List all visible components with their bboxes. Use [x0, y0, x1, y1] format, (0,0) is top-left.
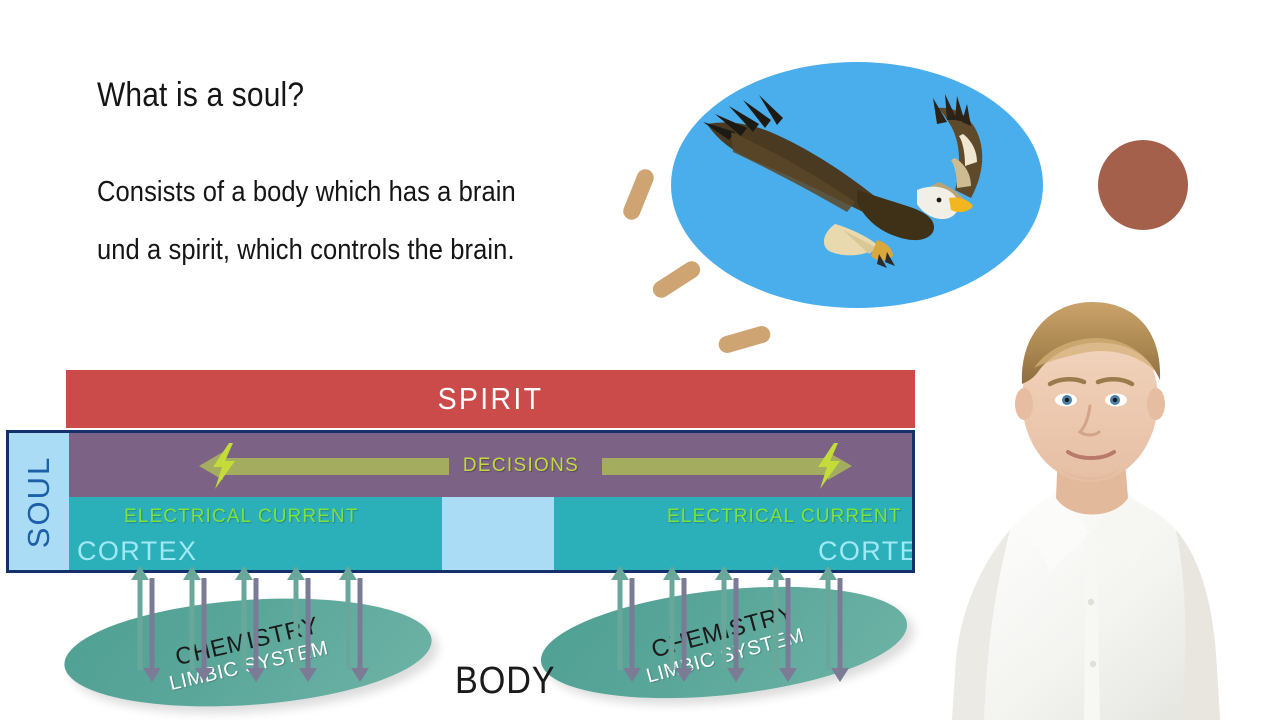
page-title: What is a soul?: [97, 76, 304, 115]
spirit-bar: SPIRIT: [66, 370, 915, 428]
cortex-label-left: CORTEX: [77, 536, 197, 567]
electrical-current-label-right: ELECTRICAL CURRENT: [667, 506, 901, 528]
slide-canvas: What is a soul? Consists of a body which…: [0, 0, 1280, 720]
soul-label-area: SOUL: [9, 433, 69, 570]
electrical-current-label-left: ELECTRICAL CURRENT: [124, 506, 358, 528]
body-text-line-1: Consists of a body which has a brain: [97, 176, 516, 209]
presenter-photo: [900, 272, 1280, 720]
soul-label: SOUL: [21, 455, 57, 547]
decisions-label: DECISIONS: [446, 452, 596, 480]
decorative-dash-icon: [717, 324, 773, 355]
lightning-bolt-icon: [814, 443, 844, 489]
decorative-dash-icon: [621, 167, 657, 223]
limbic-system-left: CHEMISTRY LIMBIC SYSTEM: [61, 587, 435, 717]
body-text-line-2: und a spirit, which controls the brain.: [97, 234, 515, 267]
soul-box: SOUL: [6, 430, 915, 573]
brown-circle-shape: [1098, 140, 1188, 230]
arrow-shaft: [221, 458, 449, 475]
lightning-bolt-icon: [209, 443, 239, 489]
arrow-shaft: [602, 458, 830, 475]
brain-area: DECISIONS ELECTRICAL CURRENT ELECTRICAL …: [69, 433, 912, 570]
body-label: BODY: [455, 660, 556, 703]
spirit-label: SPIRIT: [438, 381, 544, 417]
limbic-system-right: CHEMISTRY LIMBIC SYSTEM: [536, 571, 913, 714]
